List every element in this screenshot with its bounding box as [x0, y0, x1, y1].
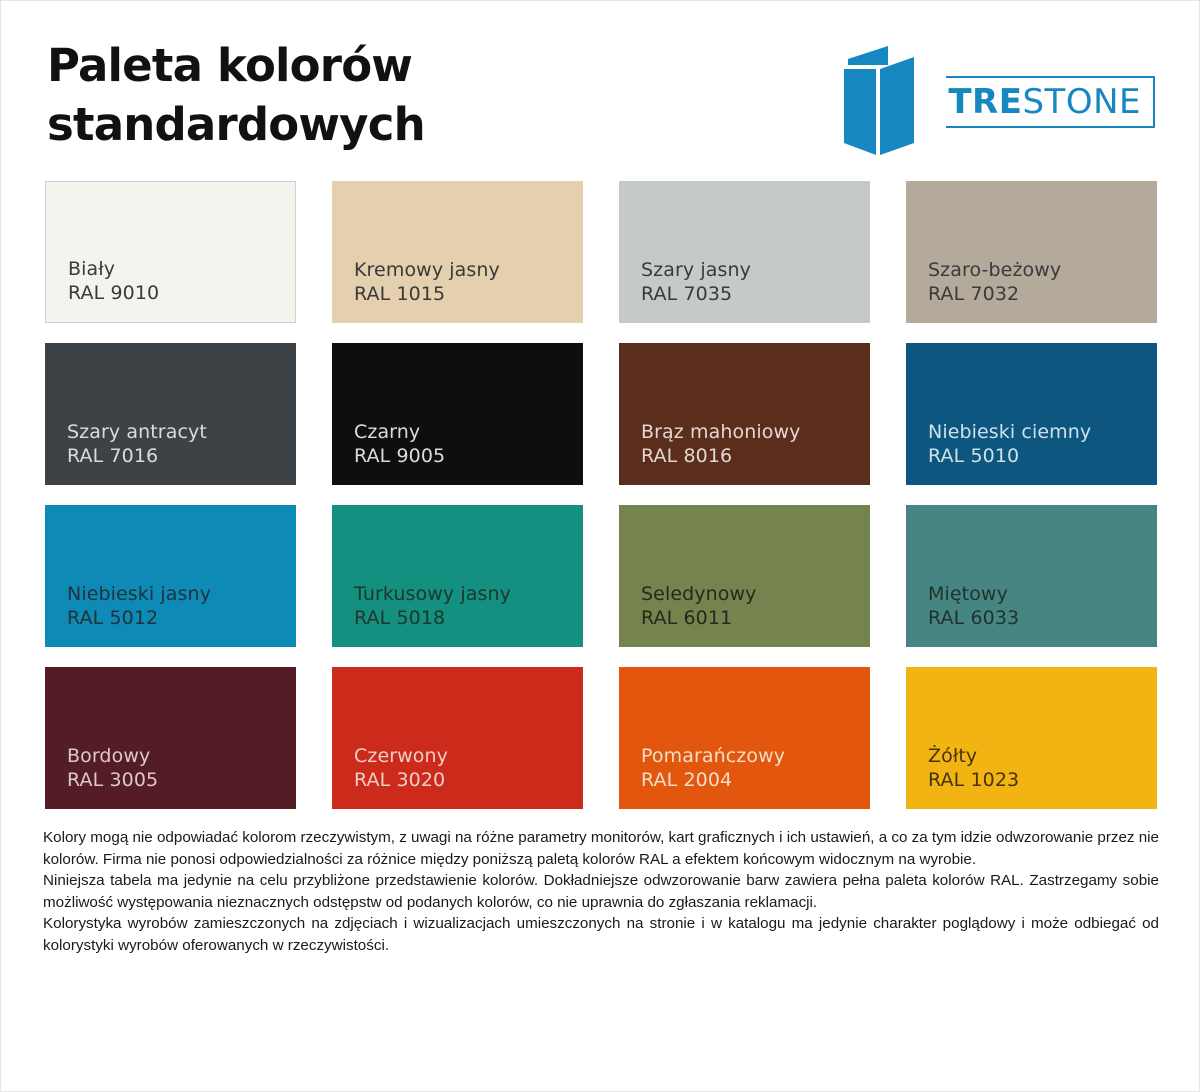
color-swatch-name: Miętowy: [928, 582, 1157, 607]
color-swatch-code: RAL 7016: [67, 444, 296, 469]
logo-wordmark: TRESTONE: [936, 76, 1155, 128]
trestone-folded-panel-logo-icon: [842, 43, 918, 161]
color-swatch-name: Bordowy: [67, 744, 296, 769]
color-swatch-code: RAL 9010: [68, 281, 295, 306]
color-swatch-name: Brąz mahoniowy: [641, 420, 870, 445]
disclaimer-paragraph-2: Niniejsza tabela ma jedynie na celu przy…: [43, 870, 1159, 913]
color-swatch-code: RAL 3020: [354, 768, 583, 793]
color-swatch[interactable]: SeledynowyRAL 6011: [619, 505, 870, 647]
disclaimer-paragraph-1: Kolory mogą nie odpowiadać kolorom rzecz…: [43, 827, 1159, 870]
color-swatch[interactable]: BiałyRAL 9010: [45, 181, 296, 323]
color-swatch-name: Niebieski jasny: [67, 582, 296, 607]
logo-text: TRESTONE: [948, 85, 1141, 119]
logo-frame-edge: [1153, 76, 1155, 128]
color-swatch-name: Żółty: [928, 744, 1157, 769]
color-swatch-name: Czerwony: [354, 744, 583, 769]
color-swatch[interactable]: Kremowy jasnyRAL 1015: [332, 181, 583, 323]
color-swatch[interactable]: MiętowyRAL 6033: [906, 505, 1157, 647]
color-swatch-name: Szary antracyt: [67, 420, 296, 445]
color-swatch-code: RAL 6033: [928, 606, 1157, 631]
color-swatch[interactable]: Niebieski jasnyRAL 5012: [45, 505, 296, 647]
color-swatch-code: RAL 6011: [641, 606, 870, 631]
logo-text-light: STONE: [1022, 82, 1141, 122]
color-swatch-code: RAL 8016: [641, 444, 870, 469]
color-swatch-code: RAL 7035: [641, 282, 870, 307]
color-swatch-code: RAL 5010: [928, 444, 1157, 469]
color-swatch[interactable]: Szaro-beżowyRAL 7032: [906, 181, 1157, 323]
logo-text-bold: TRE: [948, 82, 1022, 122]
color-swatch[interactable]: BordowyRAL 3005: [45, 667, 296, 809]
color-swatch-name: Seledynowy: [641, 582, 870, 607]
color-palette-page: Paleta kolorów standardowych TRESTONE Bi…: [0, 0, 1200, 1092]
color-swatch-name: Kremowy jasny: [354, 258, 583, 283]
page-header: Paleta kolorów standardowych TRESTONE: [1, 1, 1199, 181]
color-swatch-code: RAL 9005: [354, 444, 583, 469]
color-swatch-code: RAL 1023: [928, 768, 1157, 793]
color-swatch-name: Szary jasny: [641, 258, 870, 283]
color-swatch-grid: BiałyRAL 9010Kremowy jasnyRAL 1015Szary …: [1, 181, 1199, 809]
color-swatch[interactable]: CzerwonyRAL 3020: [332, 667, 583, 809]
color-swatch-code: RAL 5018: [354, 606, 583, 631]
color-swatch[interactable]: Niebieski ciemnyRAL 5010: [906, 343, 1157, 485]
color-swatch[interactable]: ŻółtyRAL 1023: [906, 667, 1157, 809]
color-swatch-code: RAL 3005: [67, 768, 296, 793]
color-swatch[interactable]: CzarnyRAL 9005: [332, 343, 583, 485]
color-swatch-name: Niebieski ciemny: [928, 420, 1157, 445]
color-swatch-name: Biały: [68, 257, 295, 282]
color-swatch-code: RAL 1015: [354, 282, 583, 307]
color-swatch-code: RAL 2004: [641, 768, 870, 793]
color-swatch-name: Czarny: [354, 420, 583, 445]
color-swatch-name: Szaro-beżowy: [928, 258, 1157, 283]
color-swatch[interactable]: Brąz mahoniowyRAL 8016: [619, 343, 870, 485]
color-swatch-code: RAL 7032: [928, 282, 1157, 307]
disclaimer-section: Kolory mogą nie odpowiadać kolorom rzecz…: [1, 809, 1199, 956]
brand-logo: TRESTONE: [842, 43, 1155, 161]
color-swatch[interactable]: PomarańczowyRAL 2004: [619, 667, 870, 809]
color-swatch[interactable]: Szary jasnyRAL 7035: [619, 181, 870, 323]
color-swatch-name: Pomarańczowy: [641, 744, 870, 769]
color-swatch-name: Turkusowy jasny: [354, 582, 583, 607]
color-swatch[interactable]: Turkusowy jasnyRAL 5018: [332, 505, 583, 647]
color-swatch[interactable]: Szary antracytRAL 7016: [45, 343, 296, 485]
disclaimer-paragraph-3: Kolorystyka wyrobów zamieszczonych na zd…: [43, 913, 1159, 956]
color-swatch-code: RAL 5012: [67, 606, 296, 631]
page-title: Paleta kolorów standardowych: [47, 37, 425, 154]
